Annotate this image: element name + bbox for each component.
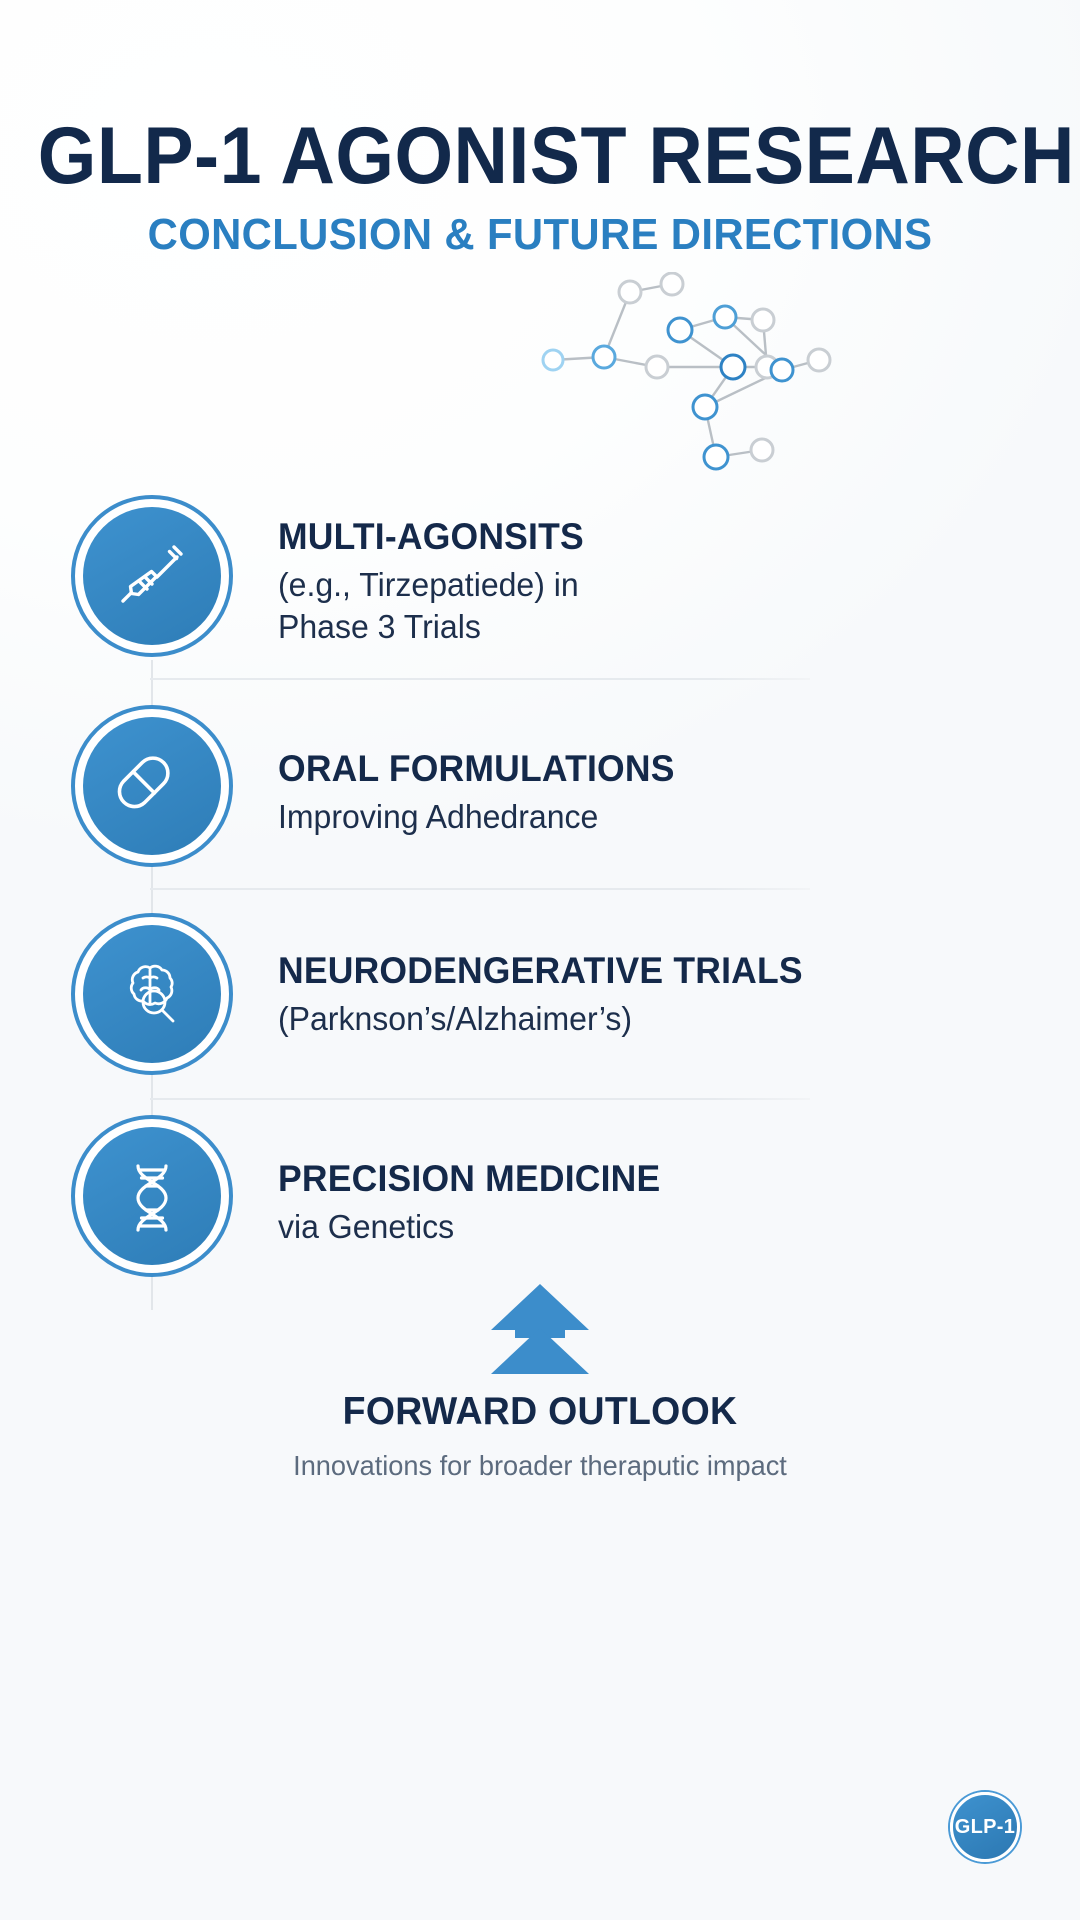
molecule-network-graphic [520,272,860,487]
list-item[interactable]: ORAL FORMULATIONS Improving Adhedrance [0,700,1080,910]
item-text-block: PRECISION MEDICINE via Genetics [278,1158,898,1248]
list-item[interactable]: MULTI-AGONSITS (e.g., Tirzepatiede) in P… [0,490,1080,700]
infographic-page: GLP-1 AGONIST RESEARCH CONCLUSION & FUTU… [0,0,1080,1920]
item-subtitle: (e.g., Tirzepatiede) in Phase 3 Trials [278,564,879,647]
syringe-icon [83,507,221,645]
page-subtitle: CONCLUSION & FUTURE DIRECTIONS [27,213,1053,257]
item-title: ORAL FORMULATIONS [278,748,873,790]
item-text-block: NEURODENGERATIVE TRIALS (Parknson’s/Alzh… [278,950,898,1040]
list-item[interactable]: NEURODENGERATIVE TRIALS (Parknson’s/Alzh… [0,908,1080,1118]
icon-badge [71,913,233,1075]
glp1-corner-logo[interactable]: GLP-1 [950,1792,1020,1862]
icon-badge [71,1115,233,1277]
item-subtitle: via Genetics [278,1206,879,1248]
item-title: MULTI-AGONSITS [278,516,873,558]
forward-outlook-section: FORWARD OUTLOOK Innovations for broader … [0,1390,1080,1482]
outlook-subtitle: Innovations for broader theraputic impac… [16,1450,1064,1482]
corner-logo-label: GLP-1 [955,1816,1015,1839]
item-title: PRECISION MEDICINE [278,1158,873,1200]
brain-magnifier-icon [83,925,221,1063]
item-subtitle: Improving Adhedrance [278,796,879,838]
up-arrow-icon [0,1282,1080,1380]
header: GLP-1 AGONIST RESEARCH CONCLUSION & FUTU… [0,118,1080,257]
page-title: GLP-1 AGONIST RESEARCH [38,118,1042,195]
item-subtitle: (Parknson’s/Alzhaimer’s) [278,998,879,1040]
capsule-pill-icon [83,717,221,855]
item-title: NEURODENGERATIVE TRIALS [278,950,873,992]
item-text-block: ORAL FORMULATIONS Improving Adhedrance [278,748,898,838]
item-text-block: MULTI-AGONSITS (e.g., Tirzepatiede) in P… [278,516,898,647]
outlook-title: FORWARD OUTLOOK [22,1390,1059,1434]
icon-badge [71,495,233,657]
dna-helix-icon [83,1127,221,1265]
icon-badge [71,705,233,867]
